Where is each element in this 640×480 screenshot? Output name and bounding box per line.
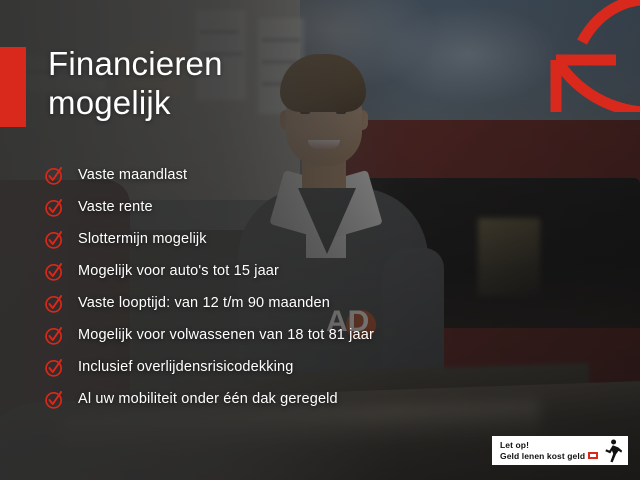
financing-promo-banner: AD Financieren mogelijk Vaste maandlast [0,0,640,480]
list-item-label: Vaste looptijd: van 12 t/m 90 maanden [78,295,330,312]
list-item: Mogelijk voor volwassenen van 18 tot 81 … [44,319,464,351]
warning-text-block: Let op! Geld lenen kost geld [500,440,598,461]
list-item: Vaste maandlast [44,159,464,191]
list-item: Inclusief overlijdensrisicodekking [44,351,464,383]
list-item-label: Inclusief overlijdensrisicodekking [78,359,293,376]
check-circle-icon [44,197,65,218]
list-item: Slottermijn mogelijk [44,223,464,255]
list-item-label: Al uw mobiliteit onder één dak geregeld [78,391,338,408]
check-circle-icon [44,325,65,346]
headline-line-2: mogelijk [48,83,378,122]
red-warning-box-icon [588,452,598,459]
status-badge: Let op! Geld lenen kost geld [492,436,628,465]
list-item-label: Mogelijk voor auto's tot 15 jaar [78,263,279,280]
list-item: Mogelijk voor auto's tot 15 jaar [44,255,464,287]
list-item-label: Vaste rente [78,199,153,216]
headline-line-1: Financieren [48,45,223,82]
list-item-label: Slottermijn mogelijk [78,231,207,248]
check-circle-icon [44,261,65,282]
check-circle-icon [44,293,65,314]
walking-man-icon [601,439,623,463]
warning-line-1: Let op! [500,440,598,451]
warning-line-2-row: Geld lenen kost geld [500,451,598,462]
list-item-label: Mogelijk voor volwassenen van 18 tot 81 … [78,327,374,344]
check-circle-icon [44,229,65,250]
page-title: Financieren mogelijk [48,44,378,122]
check-circle-icon [44,357,65,378]
red-accent-block [0,47,26,127]
check-circle-icon [44,165,65,186]
list-item: Al uw mobiliteit onder één dak geregeld [44,383,464,415]
list-item: Vaste rente [44,191,464,223]
feature-list: Vaste maandlast Vaste rente Slottermijn … [44,159,464,415]
brand-arc-logo [548,0,640,112]
list-item-label: Vaste maandlast [78,167,187,184]
list-item: Vaste looptijd: van 12 t/m 90 maanden [44,287,464,319]
warning-line-2: Geld lenen kost geld [500,451,585,462]
check-circle-icon [44,389,65,410]
